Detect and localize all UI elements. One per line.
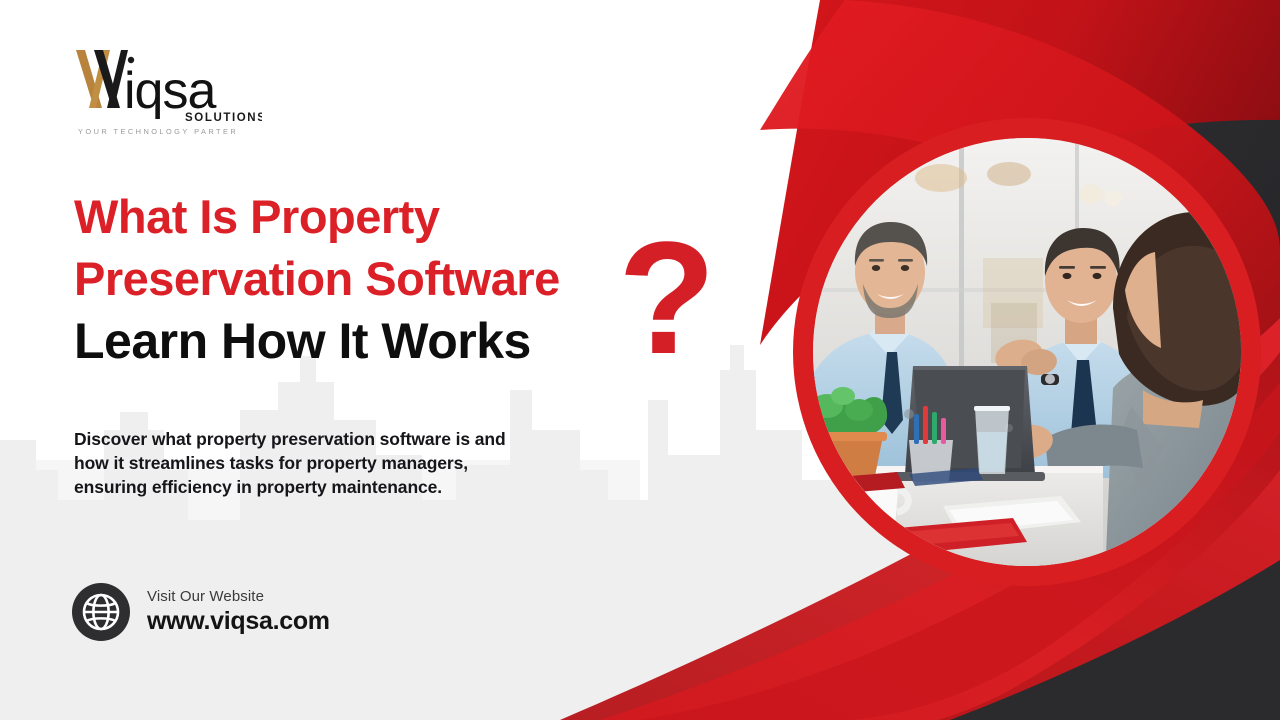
website-text-block: Visit Our Website www.viqsa.com	[147, 587, 330, 637]
website-label: Visit Our Website	[147, 587, 330, 606]
hero-photo-ring	[793, 118, 1261, 586]
office-meeting-photo	[813, 138, 1241, 566]
website-url[interactable]: www.viqsa.com	[147, 606, 330, 637]
water-glass	[974, 406, 1010, 474]
logo-svg: iqsa SOLUTIONS YOUR TECHNOLOGY PARTER	[72, 44, 262, 136]
description-line-1: Discover what property preservation soft…	[74, 427, 644, 451]
brand-logo[interactable]: iqsa SOLUTIONS YOUR TECHNOLOGY PARTER	[72, 44, 262, 136]
website-cta[interactable]: Visit Our Website www.viqsa.com	[72, 583, 330, 641]
hero-photo	[813, 138, 1241, 566]
logo-tagline-text: YOUR TECHNOLOGY PARTER	[78, 127, 238, 136]
description-line-3: ensuring efficiency in property maintena…	[74, 475, 644, 499]
promo-banner: iqsa SOLUTIONS YOUR TECHNOLOGY PARTER Wh…	[0, 0, 1280, 720]
question-mark-icon: ?	[618, 218, 716, 378]
potted-plant	[813, 387, 887, 476]
logo-solutions-text: SOLUTIONS	[185, 112, 262, 124]
description-text: Discover what property preservation soft…	[74, 427, 644, 499]
globe-icon	[72, 583, 130, 641]
description-line-2: how it streamlines tasks for property ma…	[74, 451, 644, 475]
